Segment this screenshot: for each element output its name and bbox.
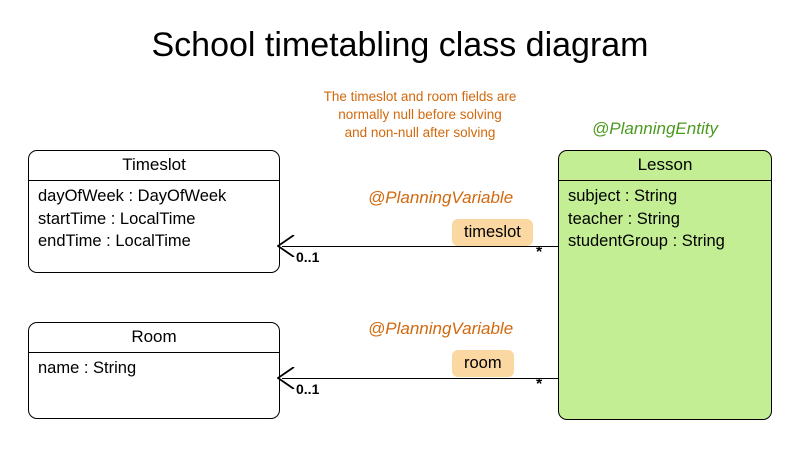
- arrowhead-icon-room: [277, 367, 295, 389]
- class-name-timeslot: Timeslot: [29, 151, 279, 181]
- field-endtime: endTime : LocalTime: [38, 230, 279, 253]
- multiplicity-room-target: 0..1: [296, 381, 319, 397]
- role-label-timeslot[interactable]: timeslot: [452, 219, 533, 246]
- annotation-note-line-2: normally null before solving: [280, 106, 560, 124]
- class-box-lesson[interactable]: Lesson subject : String teacher : String…: [558, 150, 772, 420]
- annotation-note-line-3: and non-null after solving: [280, 124, 560, 142]
- field-studentgroup: studentGroup : String: [568, 230, 771, 253]
- class-name-lesson: Lesson: [559, 151, 771, 181]
- multiplicity-timeslot-target: 0..1: [296, 249, 319, 265]
- field-teacher: teacher : String: [568, 208, 771, 231]
- annotation-note-line-1: The timeslot and room fields are: [280, 88, 560, 106]
- association-line-room: [282, 378, 559, 379]
- class-box-room[interactable]: Room name : String: [28, 322, 280, 419]
- class-diagram-canvas: School timetabling class diagram The tim…: [0, 0, 800, 450]
- stereotype-planning-entity: @PlanningEntity: [592, 119, 718, 139]
- multiplicity-timeslot-source: *: [536, 244, 542, 262]
- class-fields-timeslot: dayOfWeek : DayOfWeek startTime : LocalT…: [29, 181, 279, 253]
- multiplicity-room-source: *: [536, 376, 542, 394]
- role-label-room[interactable]: room: [452, 350, 514, 377]
- class-name-room: Room: [29, 323, 279, 353]
- association-line-timeslot: [282, 246, 559, 247]
- field-subject: subject : String: [568, 185, 771, 208]
- page-title: School timetabling class diagram: [0, 26, 800, 65]
- arrowhead-icon-timeslot: [277, 235, 295, 257]
- stereotype-planning-variable-timeslot: @PlanningVariable: [368, 188, 513, 208]
- field-dayofweek: dayOfWeek : DayOfWeek: [38, 185, 279, 208]
- field-name: name : String: [38, 357, 279, 380]
- annotation-note: The timeslot and room fields are normall…: [280, 88, 560, 142]
- field-starttime: startTime : LocalTime: [38, 208, 279, 231]
- class-fields-room: name : String: [29, 353, 279, 380]
- class-fields-lesson: subject : String teacher : String studen…: [559, 181, 771, 253]
- stereotype-planning-variable-room: @PlanningVariable: [368, 319, 513, 339]
- class-box-timeslot[interactable]: Timeslot dayOfWeek : DayOfWeek startTime…: [28, 150, 280, 273]
